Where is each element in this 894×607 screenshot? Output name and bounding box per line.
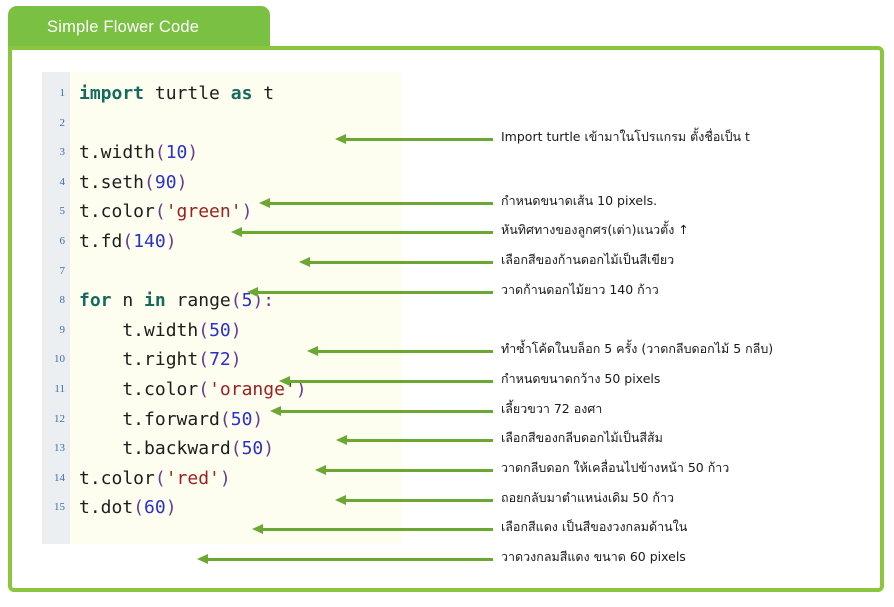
- code-token: (: [155, 142, 166, 163]
- arrow-shaft: [279, 410, 493, 413]
- line-number: 11: [42, 375, 70, 405]
- code-token: ): [231, 320, 242, 341]
- arrow-shaft: [308, 261, 493, 264]
- line-number: 1: [42, 79, 70, 109]
- code-token: (: [122, 231, 133, 252]
- code-token: in: [144, 290, 166, 311]
- annotation-arrow: [279, 376, 493, 387]
- annotation-note: วาดวงกลมสีแดง ขนาด 60 pixels: [501, 551, 686, 564]
- panel-title-label: Simple Flower Code: [47, 18, 199, 37]
- annotation-note: ถอยกลับมาตำแหน่งเดิม 50 ก้าว: [501, 492, 674, 505]
- code-token: ): [263, 438, 274, 459]
- annotation-note: Import turtle เข้ามาในโปรแกรม ตั้งชื่อเป…: [501, 131, 750, 144]
- code-token: 72: [209, 349, 231, 370]
- code-token: t.right: [79, 349, 198, 370]
- annotation-arrow: [259, 198, 493, 209]
- code-token: (: [155, 468, 166, 489]
- annotation-note: เลือกสีของก้านดอกไม้เป็นสีเขียว: [501, 254, 674, 267]
- code-token: 'green': [166, 201, 242, 222]
- code-token: 140: [133, 231, 166, 252]
- code-token: (: [198, 379, 209, 400]
- annotation-note: วาดก้านดอกไม้ยาว 140 ก้าว: [501, 284, 659, 297]
- panel-body: 123456789101112131415 import turtle as t…: [8, 46, 884, 592]
- code-token: n: [112, 290, 145, 311]
- arrow-shaft: [345, 439, 493, 442]
- code-token: ): [187, 142, 198, 163]
- code-token: ): [242, 201, 253, 222]
- annotation-arrow: [197, 554, 493, 565]
- arrow-shaft: [261, 528, 493, 531]
- annotation-arrow: [270, 406, 493, 417]
- code-token: t.backward: [79, 438, 231, 459]
- code-token: 'red': [166, 468, 220, 489]
- code-token: range: [166, 290, 231, 311]
- annotation-arrow: [335, 134, 493, 145]
- annotation-note: กำหนดขนาดกว้าง 50 pixels: [501, 373, 660, 386]
- code-token: (: [155, 201, 166, 222]
- line-number-gutter: 123456789101112131415: [42, 72, 70, 544]
- code-token: t.color: [79, 201, 155, 222]
- code-token: t.dot: [79, 497, 133, 518]
- code-token: (: [198, 349, 209, 370]
- code-token: t.width: [79, 320, 198, 341]
- annotation-note: เลี้ยวขวา 72 องศา: [501, 403, 602, 416]
- code-token: ): [220, 468, 231, 489]
- annotation-arrow: [252, 524, 493, 535]
- annotation-note: ทำซ้ำโค้ดในบล็อก 5 ครั้ง (วาดกลีบดอกไม้ …: [501, 343, 773, 356]
- code-token: as: [231, 83, 253, 104]
- code-token: 50: [242, 438, 264, 459]
- line-number: 10: [42, 345, 70, 375]
- annotation-arrow: [231, 227, 493, 238]
- code-token: ): [166, 497, 177, 518]
- arrow-shaft: [256, 291, 493, 294]
- arrow-shaft: [316, 350, 493, 353]
- code-token: 50: [231, 409, 253, 430]
- code-token: 90: [155, 172, 177, 193]
- annotation-arrow: [315, 465, 493, 476]
- line-number: 14: [42, 464, 70, 494]
- annotation-arrow: [247, 287, 493, 298]
- line-number: 3: [42, 138, 70, 168]
- annotation-note: กำหนดขนาดเส้น 10 pixels.: [501, 195, 657, 208]
- code-token: (: [231, 290, 242, 311]
- code-token: (: [144, 172, 155, 193]
- line-number: 4: [42, 168, 70, 198]
- arrow-shaft: [344, 499, 493, 502]
- line-number: 2: [42, 109, 70, 139]
- code-token: t.seth: [79, 172, 144, 193]
- code-explanation-panel: Simple Flower Code 123456789101112131415…: [8, 6, 884, 592]
- code-token: turtle: [144, 83, 231, 104]
- code-token: t.width: [79, 142, 155, 163]
- code-token: t.fd: [79, 231, 122, 252]
- line-number: 12: [42, 405, 70, 435]
- arrow-shaft: [344, 138, 493, 141]
- code-token: t.color: [79, 468, 155, 489]
- code-token: ): [231, 349, 242, 370]
- arrow-shaft: [288, 380, 493, 383]
- code-token: t.color: [79, 379, 198, 400]
- line-number: 13: [42, 434, 70, 464]
- code-token: t: [252, 83, 274, 104]
- line-number: 5: [42, 197, 70, 227]
- panel-title-tab: Simple Flower Code: [8, 6, 270, 50]
- line-number: 6: [42, 227, 70, 257]
- annotation-note: เลือกสีแดง เป็นสีของวงกลมด้านใน: [501, 521, 687, 534]
- code-token: (: [231, 438, 242, 459]
- annotation-arrow: [336, 435, 493, 446]
- code-token: 60: [144, 497, 166, 518]
- code-line: t.width(50): [79, 316, 402, 346]
- line-number: 9: [42, 316, 70, 346]
- code-token: import: [79, 83, 144, 104]
- arrow-shaft: [206, 558, 493, 561]
- arrow-shaft: [268, 202, 493, 205]
- code-token: 50: [209, 320, 231, 341]
- code-token: ): [177, 172, 188, 193]
- line-number: 8: [42, 286, 70, 316]
- code-token: t.forward: [79, 409, 220, 430]
- code-line: t.seth(90): [79, 168, 402, 198]
- arrow-shaft: [240, 231, 493, 234]
- annotation-note: วาดกลีบดอก ให้เคลื่อนไปข้างหน้า 50 ก้าว: [501, 462, 729, 475]
- code-token: (: [198, 320, 209, 341]
- code-token: (: [133, 497, 144, 518]
- arrow-shaft: [324, 469, 493, 472]
- code-token: for: [79, 290, 112, 311]
- annotation-arrow: [299, 257, 493, 268]
- code-token: (: [220, 409, 231, 430]
- line-number: 15: [42, 493, 70, 523]
- annotation-note: หันทิศทางของลูกศร(เต่า)แนวตั้ง ↑: [501, 224, 689, 237]
- code-token: ): [252, 409, 263, 430]
- annotation-arrow: [335, 495, 493, 506]
- line-number: 7: [42, 257, 70, 287]
- code-line: import turtle as t: [79, 79, 402, 109]
- annotation-arrow: [307, 346, 493, 357]
- code-token: ): [166, 231, 177, 252]
- code-token: 10: [166, 142, 188, 163]
- annotation-note: เลือกสีของกลีบดอกไม้เป็นสีส้ม: [501, 432, 663, 445]
